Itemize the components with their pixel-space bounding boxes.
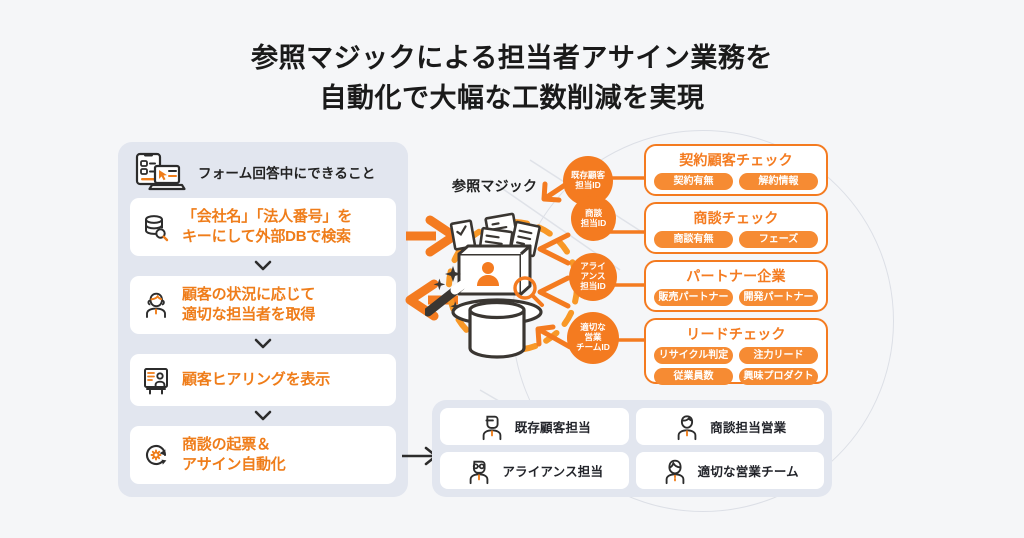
step-label: 商談の起票＆ アサイン自動化	[182, 435, 286, 475]
bubble-arrow-icon	[534, 232, 574, 266]
step-card-hearing[interactable]: 顧客ヒアリングを表示	[130, 354, 396, 406]
person-headset-icon	[140, 289, 172, 321]
tag: フェーズ	[739, 231, 818, 248]
step-card-auto-assign[interactable]: 商談の起票＆ アサイン自動化	[130, 426, 396, 484]
tag-row: 契約有無 解約情報	[654, 173, 818, 190]
result-card-negotiation-sales[interactable]: 商談担当営業	[636, 408, 825, 445]
step-list: 「会社名」「法人番号」を キーにして外部DBで検索 顧客	[118, 192, 408, 484]
check-card-negotiation[interactable]: 商談チェック 商談有無 フェーズ	[644, 202, 828, 254]
person-glasses-icon	[465, 457, 493, 485]
form-laptop-icon	[130, 152, 190, 192]
tag-row: 従業員数 興味プロダクト	[654, 368, 818, 385]
id-bubble-sales-team: 適切な 営業 チームID	[567, 312, 619, 364]
tag: 販売パートナー	[654, 289, 733, 306]
check-card-title: パートナー企業	[686, 267, 785, 285]
tag-row: 商談有無 フェーズ	[654, 231, 818, 248]
id-bubble-negotiation: 商談 担当ID	[571, 196, 616, 241]
infographic-canvas: 参照マジックによる担当者アサイン業務を 自動化で大幅な工数削減を実現	[0, 0, 1024, 538]
magic-label: 参照マジック	[452, 176, 537, 196]
result-card-label: アライアンス担当	[502, 461, 603, 480]
step-label: 顧客の状況に応じて 適切な担当者を取得	[182, 285, 315, 325]
presentation-person-icon	[140, 364, 172, 396]
check-card-title: 契約顧客チェック	[679, 151, 793, 169]
person-tie-icon	[478, 413, 506, 441]
assignee-result-panel: 既存顧客担当 商談担当営業 アライアンス担当	[432, 400, 832, 497]
step-label: 顧客ヒアリングを表示	[182, 370, 330, 390]
person-team-icon	[661, 457, 689, 485]
id-bubble-alliance: アライ アンス 担当ID	[569, 253, 617, 301]
check-card-title: リードチェック	[686, 325, 785, 343]
database-search-icon	[140, 211, 172, 243]
bubble-arrow-icon	[534, 275, 574, 309]
tag: 注力リード	[739, 347, 818, 364]
refresh-gear-icon	[140, 439, 172, 471]
result-card-alliance[interactable]: アライアンス担当	[440, 452, 629, 489]
check-card-title: 商談チェック	[693, 209, 778, 227]
chevron-down-icon	[130, 334, 396, 354]
tag: 開発パートナー	[739, 289, 818, 306]
person-suit-icon	[673, 413, 701, 441]
tag: 商談有無	[654, 231, 733, 248]
check-card-partner-company[interactable]: パートナー企業 販売パートナー 開発パートナー	[644, 260, 828, 312]
tag: 興味プロダクト	[739, 368, 818, 385]
form-capabilities-panel: フォーム回答中にできること 「会社名」「法人番号」を キーにして外部DBで検索	[118, 142, 408, 497]
chevron-down-icon	[130, 406, 396, 426]
page-title: 参照マジックによる担当者アサイン業務を 自動化で大幅な工数削減を実現	[0, 38, 1024, 118]
chevron-down-icon	[130, 256, 396, 276]
left-panel-header: フォーム回答中にできること	[118, 142, 408, 192]
result-card-label: 商談担当営業	[710, 417, 786, 436]
check-card-lead[interactable]: リードチェック リサイクル判定 注力リード 従業員数 興味プロダクト	[644, 318, 828, 384]
tag-row: 販売パートナー 開発パートナー	[654, 289, 818, 306]
step-card-get-owner[interactable]: 顧客の状況に応じて 適切な担当者を取得	[130, 276, 396, 334]
tag: 従業員数	[654, 368, 733, 385]
step-label: 「会社名」「法人番号」を キーにして外部DBで検索	[182, 207, 352, 247]
result-card-label: 適切な営業チーム	[698, 461, 799, 480]
check-card-contract-customer[interactable]: 契約顧客チェック 契約有無 解約情報	[644, 144, 828, 196]
step-card-db-search[interactable]: 「会社名」「法人番号」を キーにして外部DBで検索	[130, 198, 396, 256]
result-card-existing-customer[interactable]: 既存顧客担当	[440, 408, 629, 445]
left-panel-header-label: フォーム回答中にできること	[198, 162, 375, 182]
result-card-sales-team[interactable]: 適切な営業チーム	[636, 452, 825, 489]
tag: リサイクル判定	[654, 347, 733, 364]
title-line-1: 参照マジックによる担当者アサイン業務を	[0, 38, 1024, 78]
tag-row: リサイクル判定 注力リード	[654, 347, 818, 364]
result-card-label: 既存顧客担当	[515, 417, 591, 436]
magic-wand-icon	[428, 266, 462, 312]
tag: 契約有無	[654, 173, 733, 190]
title-line-2: 自動化で大幅な工数削減を実現	[0, 78, 1024, 118]
tag: 解約情報	[739, 173, 818, 190]
